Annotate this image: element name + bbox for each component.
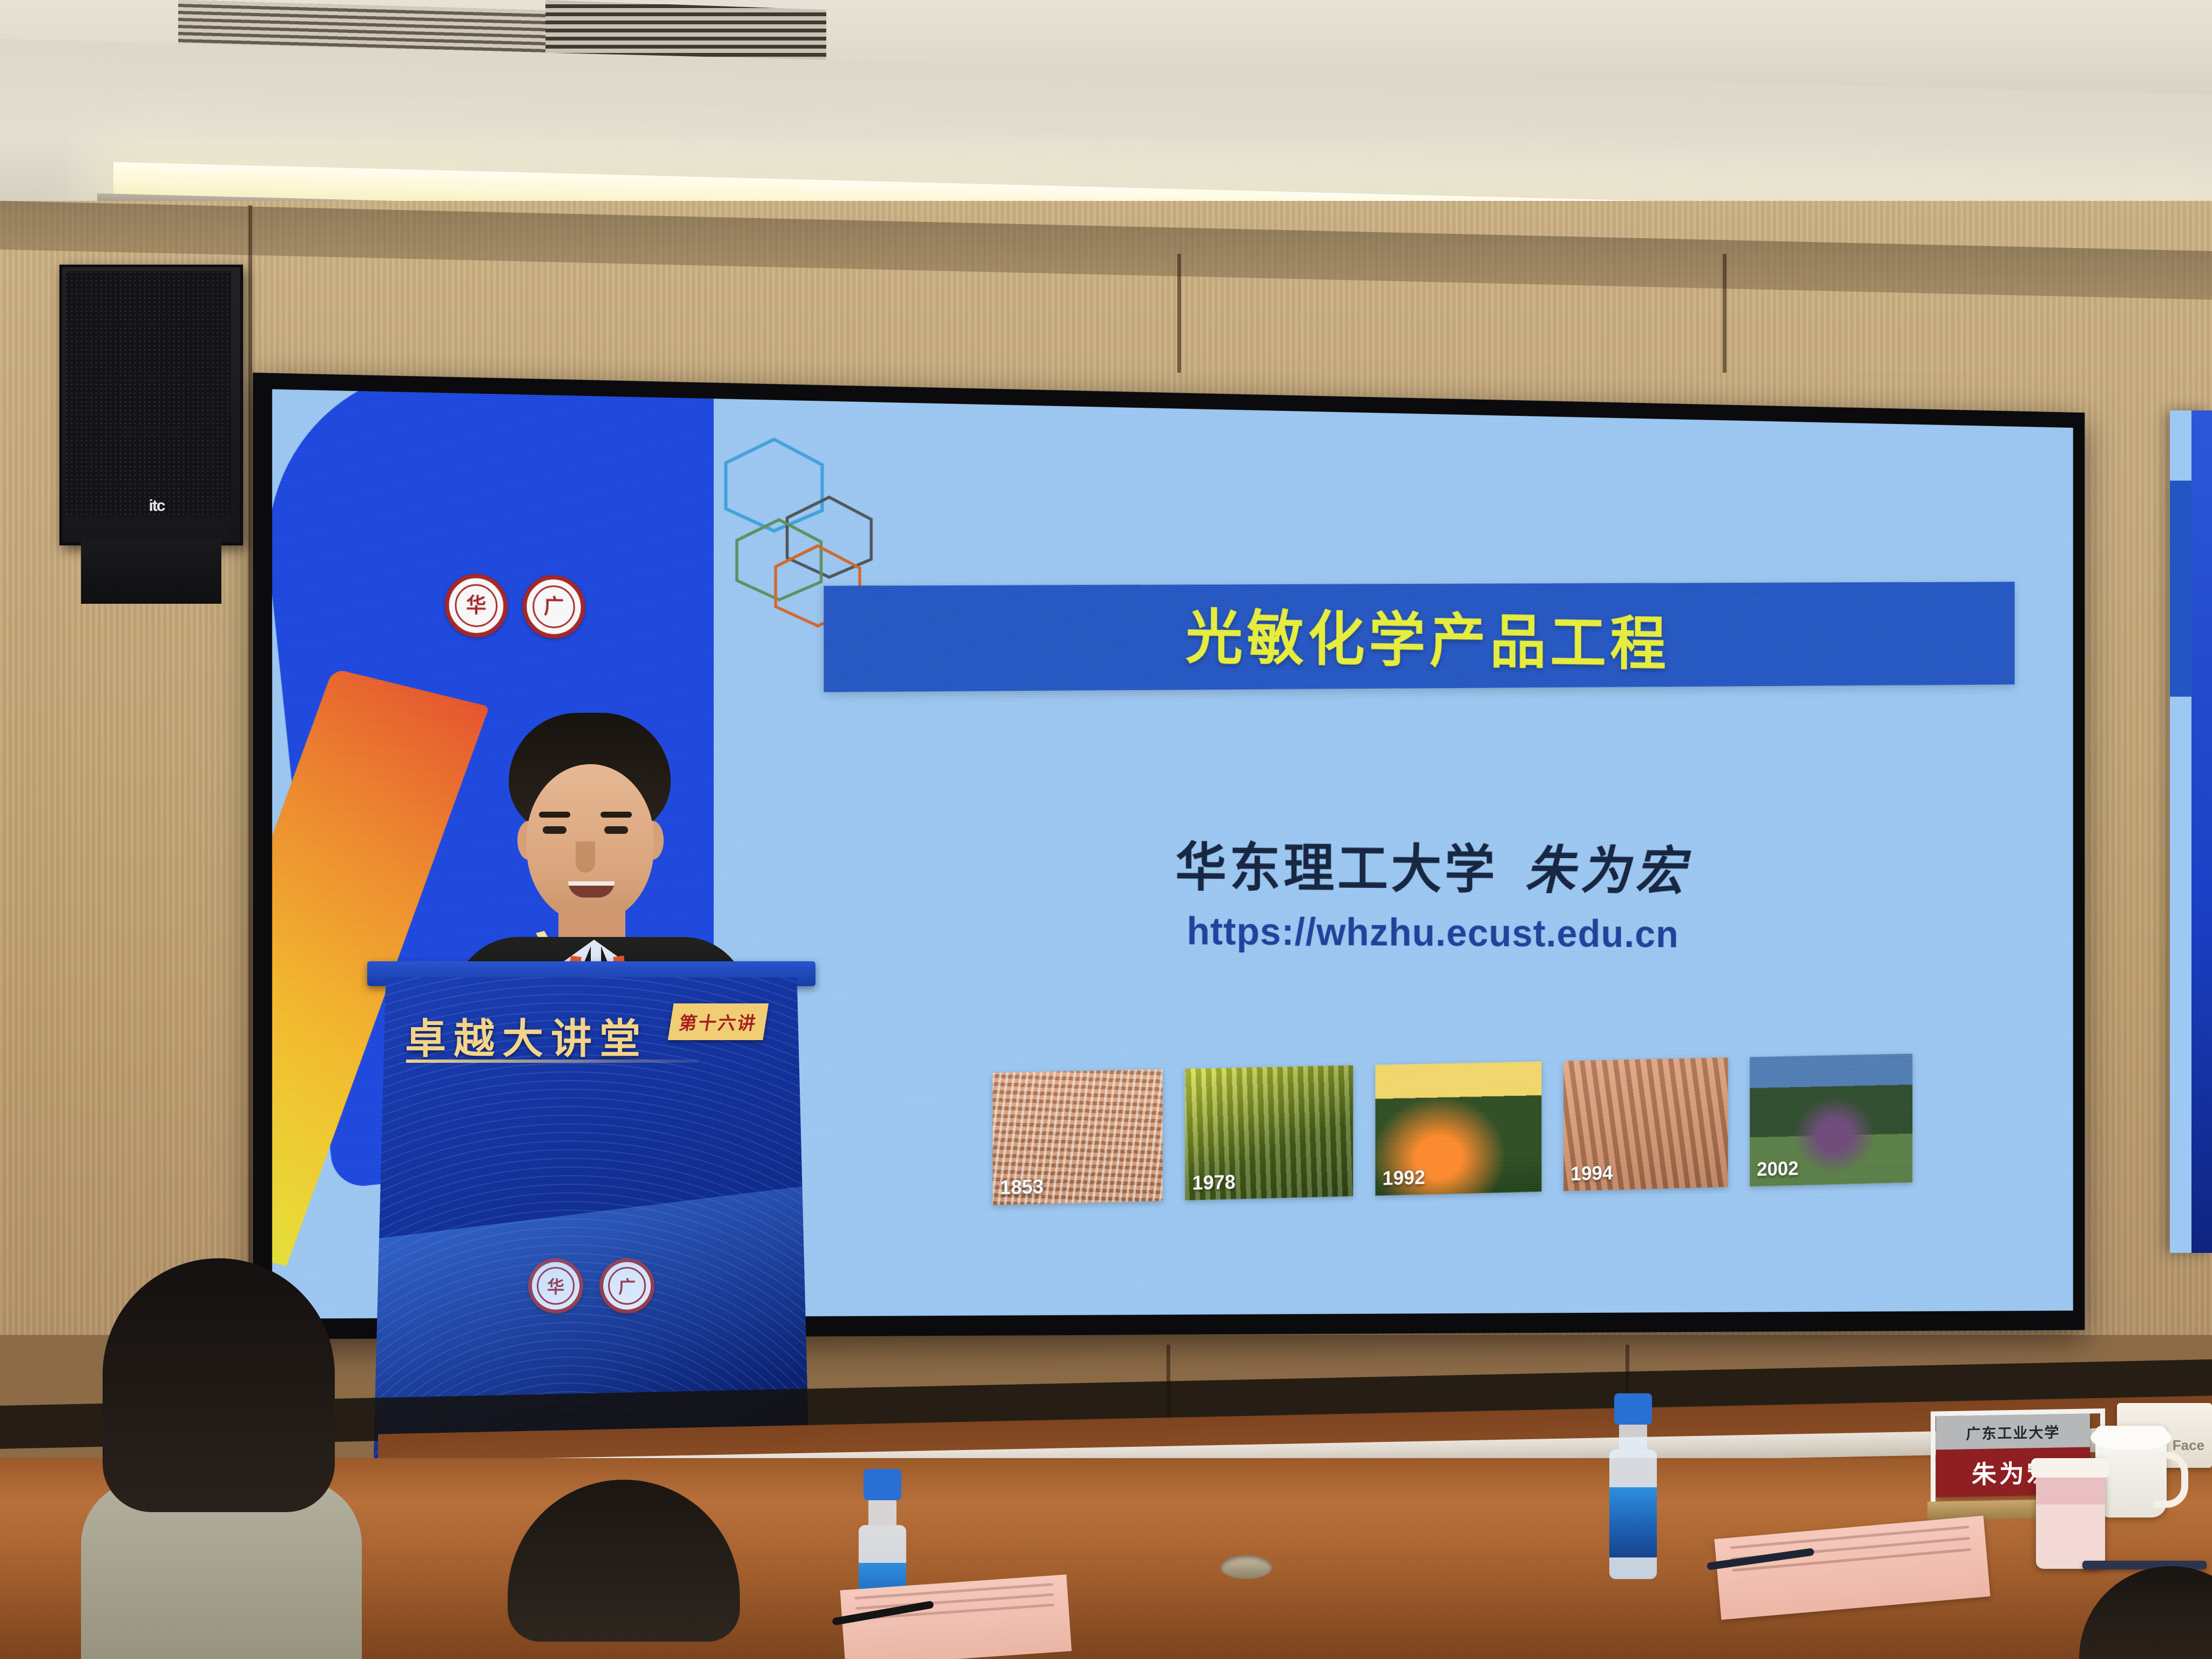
speaker-grille: [66, 271, 231, 515]
podium-rule: [406, 1060, 698, 1063]
panel-logo-ecust: 华: [445, 574, 508, 638]
bottle-neck: [868, 1500, 896, 1525]
water-bottle: [1609, 1393, 1657, 1557]
podium-session-badge: 第十六讲: [668, 1003, 769, 1040]
timeline-photo: 1853: [993, 1069, 1163, 1205]
slide-affiliation: 华东理工大学: [1175, 838, 1498, 900]
paper-coffee-cup: [2036, 1458, 2105, 1569]
nameplate-organization: 广东工业大学: [1936, 1414, 2090, 1450]
wall-seam: [1723, 254, 1727, 373]
mug-handle: [2153, 1452, 2188, 1508]
lecture-hall-photo: itc 华 广 守 正: [0, 0, 2212, 1659]
hexagon-decoration: [721, 436, 894, 610]
slide-presenter-name: 朱为宏: [1525, 841, 1690, 900]
tissue-box-brand: Face: [2173, 1437, 2204, 1454]
slide-url: https://whzhu.ecust.edu.cn: [949, 907, 1907, 957]
secondary-display-shape: [2191, 410, 2212, 1253]
timeline-photo-year: 1978: [1192, 1171, 1236, 1195]
mug-lid: [2090, 1426, 2171, 1449]
timeline-photo: 2002: [1750, 1054, 1912, 1186]
bottle-cap: [864, 1469, 901, 1500]
audience-member-front-center: [508, 1480, 740, 1659]
bottle-cap: [1614, 1393, 1652, 1425]
timeline-photo-year: 2002: [1757, 1158, 1798, 1181]
podium-title: 卓越大讲堂: [405, 1006, 648, 1065]
panel-logo-gdut-glyph: 广: [532, 585, 575, 629]
timeline-photo: 1992: [1375, 1061, 1542, 1196]
timeline-photo-year: 1992: [1382, 1166, 1425, 1190]
speaker-mount-bracket: [81, 539, 221, 604]
timeline-photo-strip: 1853 1978 1992 1994 2002: [993, 1051, 2022, 1247]
audience-hair: [103, 1258, 335, 1512]
slide-title: 光敏化学产品工程: [1185, 590, 1670, 682]
timeline-photo: 1978: [1185, 1065, 1353, 1201]
audience-member-front-left: [81, 1258, 362, 1659]
table-cable-grommet: [1220, 1555, 1272, 1579]
slide-title-bar: 光敏化学产品工程: [824, 582, 2014, 692]
panel-logo-gdut: 广: [522, 575, 585, 639]
wall-seam: [1177, 254, 1181, 373]
slide-affiliation-line: 华东理工大学朱为宏: [949, 822, 1907, 906]
wall-seam: [248, 205, 252, 1334]
presenter-brow-right: [601, 812, 632, 818]
presenter-brow-left: [539, 812, 570, 818]
speaker-brand-label: itc: [124, 497, 189, 516]
timeline-photo-year: 1853: [1000, 1176, 1044, 1199]
bottle-neck: [1619, 1425, 1647, 1449]
timeline-photo: 1994: [1563, 1057, 1728, 1191]
podium-logo-ecust: 华: [528, 1258, 583, 1313]
coffee-cup-lid: [2031, 1458, 2110, 1478]
panel-logo-ecust-glyph: 华: [455, 584, 497, 628]
presenter-nose: [576, 841, 595, 873]
podium-logo-ecust-glyph: 华: [537, 1267, 575, 1305]
podium-logo-gdut-glyph: 广: [608, 1267, 646, 1305]
podium-logo-gdut: 广: [599, 1258, 655, 1313]
bottle-label: [1609, 1487, 1657, 1557]
presenter-eye-left: [543, 826, 567, 834]
presenter-eye-right: [604, 826, 628, 834]
secondary-display[interactable]: [2170, 410, 2212, 1253]
audience-hair: [508, 1480, 740, 1642]
timeline-photo-year: 1994: [1570, 1162, 1613, 1185]
